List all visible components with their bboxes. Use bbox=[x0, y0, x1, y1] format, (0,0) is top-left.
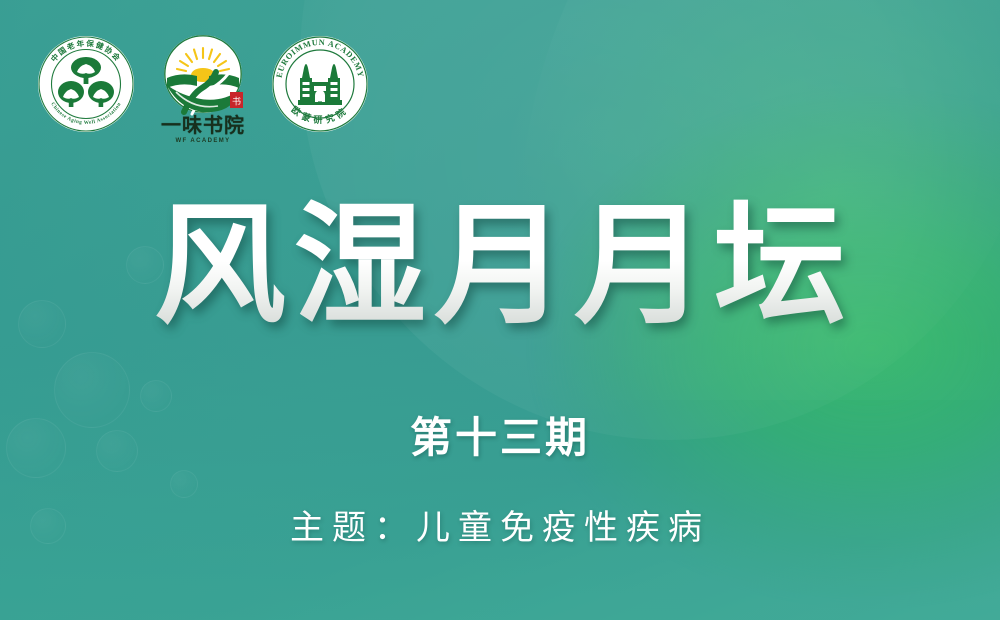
title-block: 风湿月月坛 bbox=[0, 198, 1000, 335]
wf-academy-en-label: WF ACADEMY bbox=[161, 138, 245, 144]
logo-chinese-aging-well-association: 中国老年保健协会 Chinese Aging Well Association bbox=[36, 34, 136, 134]
wf-academy-emblem-icon: 书 bbox=[154, 34, 252, 118]
issue-number: 第十三期 bbox=[0, 404, 1000, 465]
euroimmun-academy-seal-icon: EUROIMMUN ACADEMY 欧蒙研究院 bbox=[270, 34, 370, 134]
chinese-aging-well-association-seal-icon: 中国老年保健协会 Chinese Aging Well Association bbox=[36, 34, 136, 134]
logo-row: 中国老年保健协会 Chinese Aging Well Association bbox=[36, 34, 370, 144]
poster-canvas: 中国老年保健协会 Chinese Aging Well Association bbox=[0, 0, 1000, 620]
wf-academy-cn-label: 一味书院 bbox=[161, 116, 245, 136]
wf-academy-caption: 一味书院 WF ACADEMY bbox=[161, 116, 245, 144]
page-title: 风湿月月坛 bbox=[146, 198, 854, 335]
logo-euroimmun-academy: EUROIMMUN ACADEMY 欧蒙研究院 bbox=[270, 34, 370, 134]
logo-wf-academy: 书 一味书院 WF ACADEMY bbox=[154, 34, 252, 144]
bubble-decoration bbox=[170, 470, 198, 498]
svg-text:书: 书 bbox=[232, 97, 241, 108]
theme-line: 主题：儿童免疫性疾病 bbox=[0, 500, 1000, 549]
